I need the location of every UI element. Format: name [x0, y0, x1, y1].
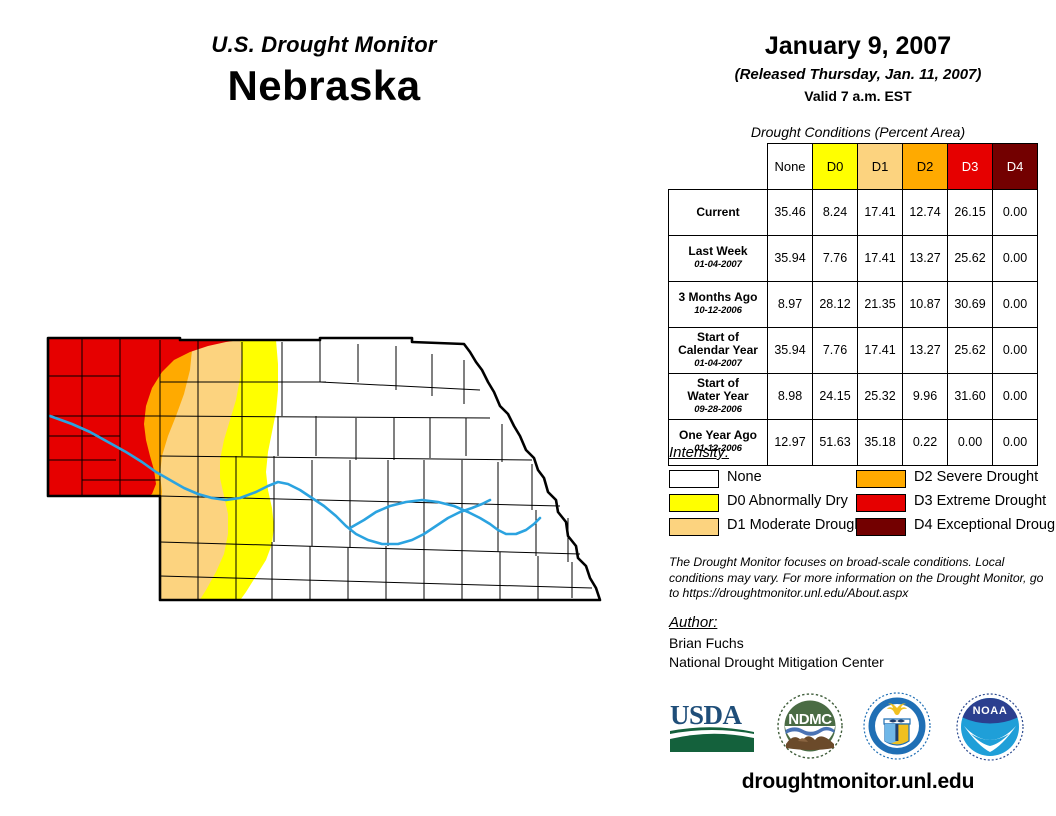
row-label-date: 01-04-2007: [672, 357, 764, 370]
cell-d1: 17.41: [858, 327, 903, 373]
map-zone-layers: [20, 320, 640, 620]
cell-d3: 0.00: [948, 419, 993, 465]
cell-d3: 25.62: [948, 235, 993, 281]
legend-label: D2 Severe Drought: [914, 468, 1038, 487]
author-affiliation: National Drought Mitigation Center: [669, 653, 884, 672]
cell-d1: 17.41: [858, 189, 903, 235]
table-row: 3 Months Ago10-12-20068.9728.1221.3510.8…: [669, 281, 1038, 327]
author-name: Brian Fuchs: [669, 634, 884, 653]
cell-d3: 25.62: [948, 327, 993, 373]
row-label: 3 Months Ago10-12-2006: [669, 281, 768, 327]
cell-none: 35.46: [768, 189, 813, 235]
legend-column-right: D2 Severe DroughtD3 Extreme DroughtD4 Ex…: [856, 468, 1056, 538]
legend-label: D3 Extreme Drought: [914, 492, 1046, 511]
column-header-d2: D2: [903, 144, 948, 190]
page-title: Nebraska: [0, 62, 648, 110]
row-label-date: 09-28-2006: [672, 403, 764, 416]
table-body: Current35.468.2417.4112.7426.150.00Last …: [669, 189, 1038, 465]
table-row: Last Week01-04-200735.947.7617.4113.2725…: [669, 235, 1038, 281]
cell-d2: 13.27: [903, 327, 948, 373]
legend-label: D0 Abnormally Dry: [727, 492, 848, 511]
row-label-date: 10-12-2006: [672, 304, 764, 317]
legend-swatch-icon: [856, 494, 906, 512]
row-label: Start ofCalendar Year01-04-2007: [669, 327, 768, 373]
legend-label: None: [727, 468, 762, 487]
cell-none: 35.94: [768, 235, 813, 281]
cell-d2: 12.74: [903, 189, 948, 235]
row-label-date: 01-04-2007: [672, 258, 764, 271]
program-title: U.S. Drought Monitor: [0, 32, 648, 58]
author-block: Brian Fuchs National Drought Mitigation …: [669, 634, 884, 672]
cell-d3: 30.69: [948, 281, 993, 327]
disclaimer-text: The Drought Monitor focuses on broad-sca…: [669, 555, 1044, 602]
cell-d0: 28.12: [813, 281, 858, 327]
column-header-d1: D1: [858, 144, 903, 190]
report-date: January 9, 2007: [660, 32, 1056, 61]
column-header-none: None: [768, 144, 813, 190]
cell-d0: 7.76: [813, 235, 858, 281]
cell-d1: 21.35: [858, 281, 903, 327]
cell-d4: 0.00: [993, 189, 1038, 235]
cell-d4: 0.00: [993, 419, 1038, 465]
column-header-d4: D4: [993, 144, 1038, 190]
drought-map: [20, 320, 640, 620]
legend-swatch-icon: [669, 518, 719, 536]
cell-none: 35.94: [768, 327, 813, 373]
cell-d4: 0.00: [993, 235, 1038, 281]
legend-column-left: NoneD0 Abnormally DryD1 Moderate Drought: [669, 468, 849, 538]
table-header-row: None D0 D1 D2 D3 D4: [669, 144, 1038, 190]
logo-row: USDA NDMC: [660, 690, 1056, 770]
cell-d2: 0.22: [903, 419, 948, 465]
row-label: Start ofWater Year09-28-2006: [669, 373, 768, 419]
cell-none: 8.97: [768, 281, 813, 327]
cell-d0: 7.76: [813, 327, 858, 373]
cell-d1: 17.41: [858, 235, 903, 281]
column-header-d0: D0: [813, 144, 858, 190]
cell-none: 8.98: [768, 373, 813, 419]
cell-d0: 8.24: [813, 189, 858, 235]
report-release-date: (Released Thursday, Jan. 11, 2007): [660, 66, 1056, 83]
legend-label: D4 Exceptional Drought: [914, 516, 1056, 535]
report-valid-time: Valid 7 a.m. EST: [660, 88, 1056, 104]
table-caption: Drought Conditions (Percent Area): [660, 124, 1056, 140]
column-header-d3: D3: [948, 144, 993, 190]
table-corner-cell: [669, 144, 768, 190]
row-label: Last Week01-04-2007: [669, 235, 768, 281]
ndmc-logo: NDMC: [776, 692, 844, 760]
site-url: droughtmonitor.unl.edu: [660, 770, 1056, 794]
row-label: Current: [669, 189, 768, 235]
cell-d1: 35.18: [858, 419, 903, 465]
cell-none: 12.97: [768, 419, 813, 465]
legend-swatch-icon: [669, 470, 719, 488]
cell-d4: 0.00: [993, 327, 1038, 373]
noaa-commerce-logo: [862, 691, 932, 761]
cell-d3: 31.60: [948, 373, 993, 419]
svg-text:NDMC: NDMC: [788, 711, 832, 728]
legend-swatch-icon: [856, 518, 906, 536]
cell-d4: 0.00: [993, 373, 1038, 419]
svg-text:NOAA: NOAA: [973, 705, 1008, 717]
table-row: Start ofWater Year09-28-20068.9824.1525.…: [669, 373, 1038, 419]
cell-d2: 10.87: [903, 281, 948, 327]
table-row: Current35.468.2417.4112.7426.150.00: [669, 189, 1038, 235]
legend-swatch-icon: [856, 470, 906, 488]
drought-conditions-table: None D0 D1 D2 D3 D4 Current35.468.2417.4…: [668, 143, 1038, 466]
svg-text:USDA: USDA: [670, 700, 743, 730]
cell-d2: 13.27: [903, 235, 948, 281]
cell-d0: 51.63: [813, 419, 858, 465]
table-row: Start ofCalendar Year01-04-200735.947.76…: [669, 327, 1038, 373]
cell-d3: 26.15: [948, 189, 993, 235]
cell-d1: 25.32: [858, 373, 903, 419]
legend-swatch-icon: [669, 494, 719, 512]
cell-d4: 0.00: [993, 281, 1038, 327]
legend-label: D1 Moderate Drought: [727, 516, 866, 535]
cell-d2: 9.96: [903, 373, 948, 419]
noaa-logo: NOAA: [955, 692, 1025, 762]
author-heading: Author:: [669, 614, 717, 631]
nebraska-map-svg: [20, 320, 640, 620]
cell-d0: 24.15: [813, 373, 858, 419]
intensity-legend-heading: Intensity:: [669, 444, 729, 461]
usda-logo: USDA: [668, 698, 756, 754]
